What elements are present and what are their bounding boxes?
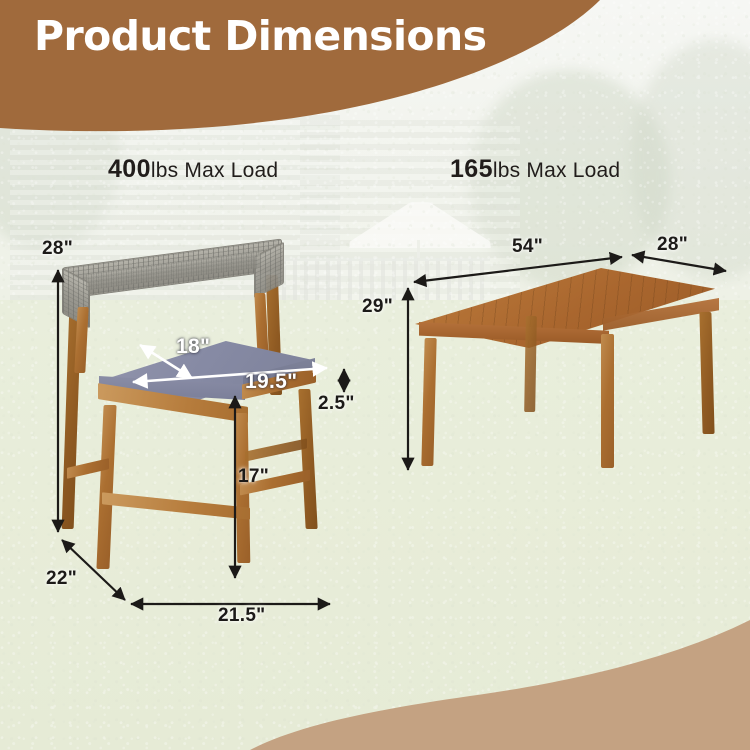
chair-rear-leg-right	[298, 389, 317, 529]
chair-illustration	[40, 245, 360, 590]
label-table-length: 54"	[512, 236, 543, 258]
table-leg-front-right	[601, 334, 614, 468]
chair-max-load-label: 400lbs Max Load	[108, 155, 278, 184]
table-max-load-unit: lbs Max Load	[493, 159, 620, 182]
label-chair-seat-height: 17"	[238, 466, 269, 488]
table-leg-rear-left	[524, 316, 537, 412]
chair-stretcher-upper-right	[245, 438, 307, 461]
page-title: Product Dimensions	[34, 12, 486, 60]
table-max-load-value: 165	[450, 155, 493, 183]
chair-max-load-unit: lbs Max Load	[151, 159, 278, 182]
table-leg-front-left	[421, 338, 436, 466]
infographic-canvas: Product Dimensions 400lbs Max Load 165lb…	[0, 0, 750, 750]
label-table-width: 28"	[657, 234, 688, 256]
chair-front-leg-left	[96, 405, 116, 569]
label-table-height: 29"	[362, 296, 393, 318]
label-chair-seat-depth: 18"	[176, 335, 210, 359]
label-chair-width: 21.5"	[218, 605, 266, 627]
table-illustration	[405, 250, 740, 510]
label-chair-seat-width: 19.5"	[245, 370, 297, 394]
table-leg-rear-right	[699, 312, 714, 434]
label-chair-depth: 22"	[46, 568, 77, 590]
label-chair-cushion-thickness: 2.5"	[318, 393, 355, 415]
table-max-load-label: 165lbs Max Load	[450, 155, 620, 184]
chair-stretcher-front	[102, 492, 250, 520]
chair-arm-post-left	[74, 307, 88, 373]
chair-max-load-value: 400	[108, 155, 151, 183]
label-chair-height: 28"	[42, 238, 73, 260]
